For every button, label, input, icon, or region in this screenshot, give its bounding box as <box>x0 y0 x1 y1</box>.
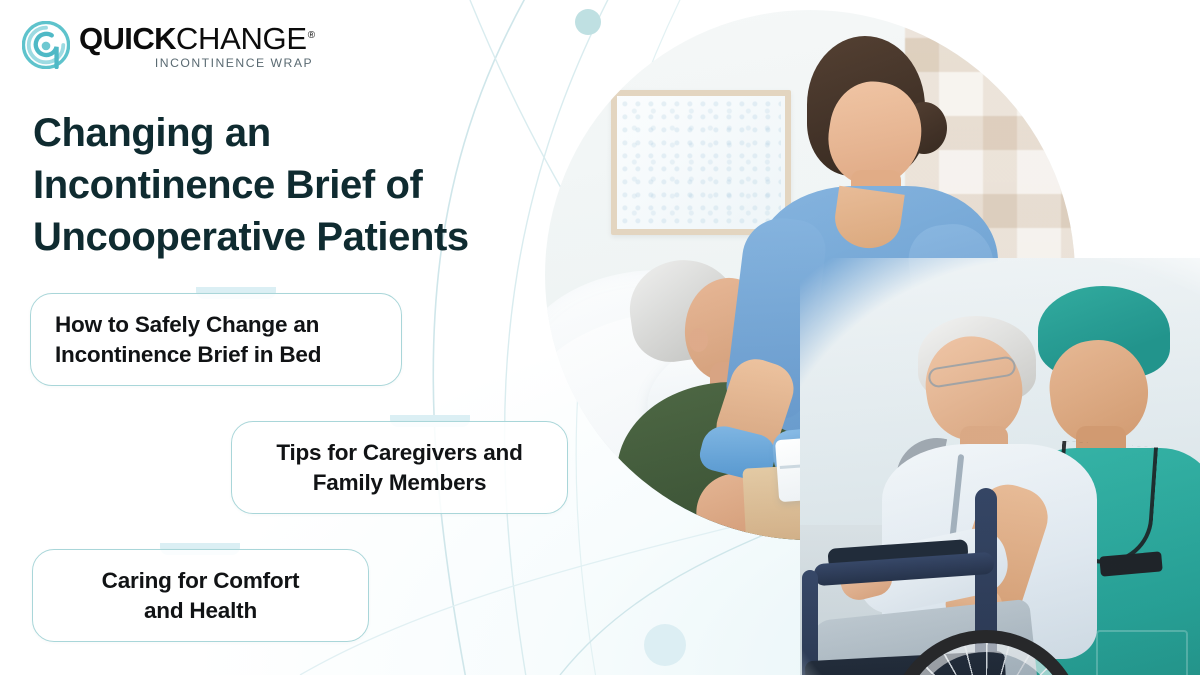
topic-card-label: Tips for Caregivers and Family Members <box>250 438 549 498</box>
decor-arc-6 <box>560 520 800 675</box>
topic-card-label: How to Safely Change an Incontinence Bri… <box>55 310 377 370</box>
title-line-1: Changing an <box>33 107 553 159</box>
title-line-3: Uncooperative Patients <box>33 211 553 263</box>
topic-card-label: Caring for Comfort and Health <box>51 566 350 626</box>
decor-arc-1 <box>433 0 560 675</box>
logo-tagline: INCONTINENCE WRAP <box>79 57 313 69</box>
wall-art <box>611 90 791 235</box>
logo-name-bold: QUICK <box>79 23 176 54</box>
hero-banner: QUICK CHANGE ® INCONTINENCE WRAP Changin… <box>0 0 1200 675</box>
title-line-1-text: Changing an <box>33 111 271 155</box>
spiral-circle-icon <box>22 21 70 69</box>
title-line-2: Incontinence Brief of <box>33 159 553 211</box>
registered-mark-icon: ® <box>308 31 315 41</box>
topic-card-caring-for-comfort[interactable]: Caring for Comfort and Health <box>32 549 369 642</box>
decor-arc-5 <box>300 520 760 675</box>
teal-dot-bottom-icon <box>644 624 686 666</box>
title-line-2-text: Incontinence Brief of <box>33 163 422 207</box>
wheelchair-care-photo <box>800 258 1200 675</box>
topic-card-how-to-safely-change[interactable]: How to Safely Change an Incontinence Bri… <box>30 293 402 386</box>
topic-card-tips-for-caregivers[interactable]: Tips for Caregivers and Family Members <box>231 421 568 514</box>
logo-name-light: CHANGE <box>176 23 307 54</box>
page-title: Changing an Incontinence Brief of Uncoop… <box>33 107 553 263</box>
brand-logo[interactable]: QUICK CHANGE ® INCONTINENCE WRAP <box>22 20 315 69</box>
title-line-3-text: Uncooperative Patients <box>33 215 469 259</box>
